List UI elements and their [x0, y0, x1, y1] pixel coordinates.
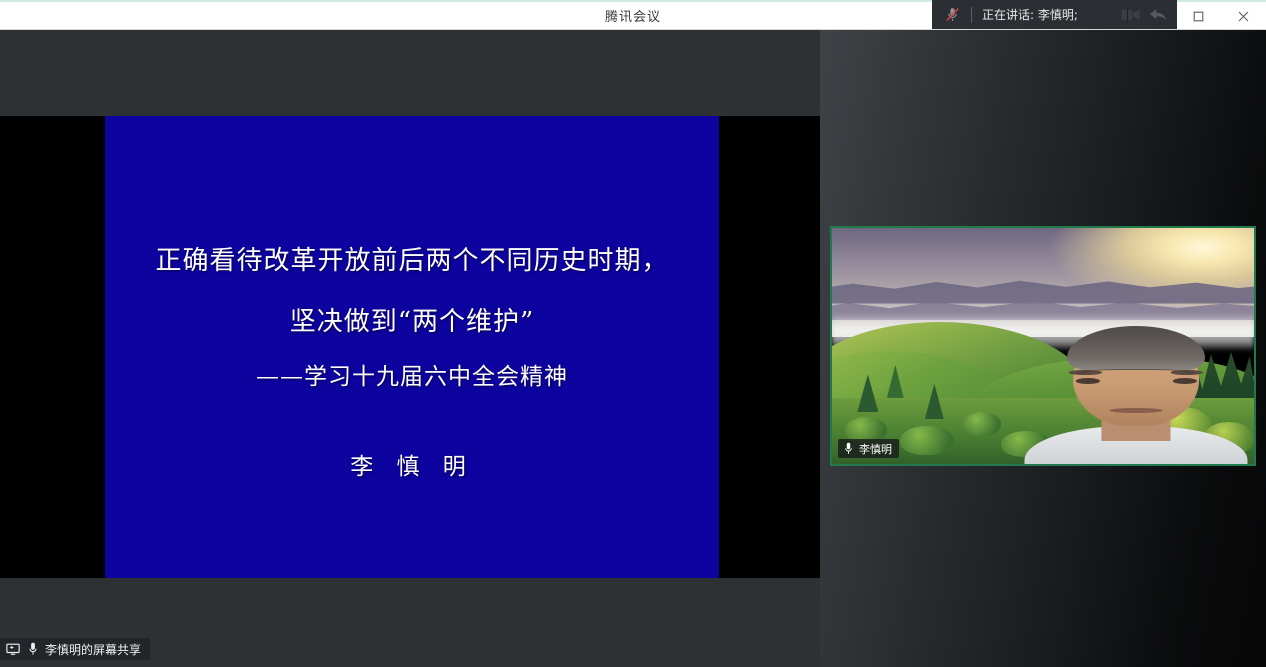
- speaking-status-text: 正在讲话: 李慎明;: [982, 6, 1119, 23]
- screen-share-status-text: 李慎明的屏幕共享: [45, 641, 141, 658]
- participant-name-badge: 李慎明: [838, 439, 899, 458]
- participant-name: 李慎明: [859, 441, 892, 457]
- tencent-meeting-window: 腾讯会议: [0, 0, 1266, 667]
- screen-share-status-chip: 李慎明的屏幕共享: [0, 638, 150, 660]
- microphone-icon: [25, 642, 40, 657]
- monitor-icon: [5, 642, 20, 657]
- participant-video-tile[interactable]: 李慎明: [830, 226, 1256, 466]
- slide-title-line-2: 坚决做到“两个维护”: [290, 305, 535, 340]
- back-arrow-icon[interactable]: [1147, 4, 1171, 26]
- maximize-button[interactable]: [1176, 2, 1221, 31]
- toolbar-divider: [971, 7, 972, 23]
- camera-off-icon[interactable]: [1119, 4, 1143, 26]
- maximize-icon: [1193, 11, 1204, 22]
- speaking-status-bar[interactable]: 正在讲话: 李慎明;: [932, 0, 1177, 29]
- close-icon: [1238, 11, 1249, 22]
- shared-slide: 正确看待改革开放前后两个不同历史时期， 坚决做到“两个维护” ——学习十九届六中…: [105, 116, 719, 578]
- window-title: 腾讯会议: [605, 6, 661, 25]
- slide-title-line-1: 正确看待改革开放前后两个不同历史时期，: [155, 244, 668, 279]
- microphone-icon: [842, 442, 855, 455]
- meeting-body: 正确看待改革开放前后两个不同历史时期， 坚决做到“两个维护” ——学习十九届六中…: [0, 30, 1266, 667]
- screen-share-region[interactable]: 正确看待改革开放前后两个不同历史时期， 坚决做到“两个维护” ——学习十九届六中…: [0, 30, 820, 667]
- slide-author: 李 慎 明: [350, 447, 474, 481]
- close-button[interactable]: [1221, 2, 1266, 31]
- video-gallery-panel: 李慎明: [820, 30, 1266, 667]
- slide-subtitle: ——学习十九届六中全会精神: [256, 362, 568, 393]
- speaker-bar-icons: [1119, 4, 1171, 26]
- participant-silhouette: [1035, 318, 1238, 464]
- microphone-muted-icon[interactable]: [942, 5, 962, 25]
- virtual-background: [832, 228, 1254, 464]
